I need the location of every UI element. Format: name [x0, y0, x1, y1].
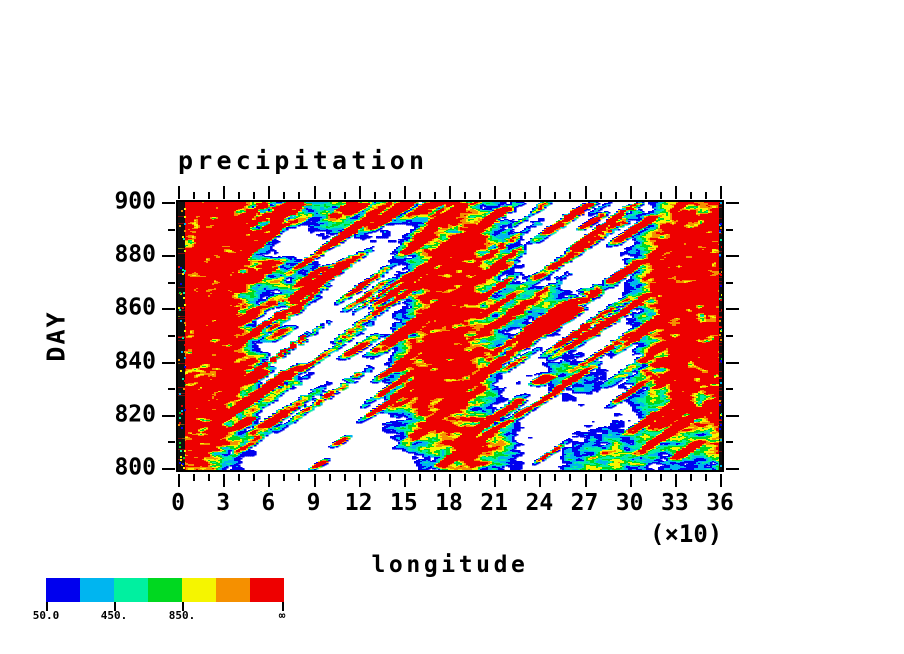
y-tick-label: 820	[100, 403, 156, 426]
x-axis-major-tick	[720, 186, 722, 199]
x-axis-minor-tick	[554, 192, 556, 199]
x-tick-label: 36	[706, 492, 734, 515]
x-tick-label: 21	[480, 492, 508, 515]
x-axis-minor-tick	[329, 474, 331, 481]
x-axis-major-tick	[494, 186, 496, 199]
x-tick-label: 30	[616, 492, 644, 515]
x-axis-minor-tick	[253, 192, 255, 199]
colorbar-band	[250, 578, 284, 602]
x-axis-minor-tick	[600, 192, 602, 199]
x-axis-minor-tick	[344, 474, 346, 481]
x-axis-minor-tick	[193, 192, 195, 199]
colorbar-band	[80, 578, 114, 602]
x-axis-major-tick	[449, 186, 451, 199]
x-axis-minor-tick	[660, 474, 662, 481]
x-axis-ticks-bottom	[176, 472, 724, 488]
x-axis-minor-tick	[283, 192, 285, 199]
y-axis-minor-tick	[726, 282, 733, 284]
y-axis-minor-tick	[726, 229, 733, 231]
y-axis-ticks-right	[724, 200, 740, 472]
x-axis-minor-tick	[389, 474, 391, 481]
colorbar: 50.0450.850.∞	[46, 578, 284, 602]
x-tick-label: 33	[661, 492, 689, 515]
x-axis-minor-tick	[434, 192, 436, 199]
x-axis-major-tick	[268, 474, 270, 487]
x-axis-minor-tick	[238, 474, 240, 481]
y-axis-major-tick	[726, 308, 739, 310]
x-axis-minor-tick	[298, 474, 300, 481]
y-axis-major-tick	[162, 202, 175, 204]
chart-title: precipitation	[178, 148, 428, 173]
x-axis-minor-tick	[705, 192, 707, 199]
x-axis-minor-tick	[524, 192, 526, 199]
x-axis-minor-tick	[509, 192, 511, 199]
colorbar-bands	[46, 578, 284, 602]
y-axis-major-tick	[726, 468, 739, 470]
y-axis-minor-tick	[168, 441, 175, 443]
plot-area	[176, 200, 724, 472]
x-axis-minor-tick	[298, 192, 300, 199]
x-tick-label: 15	[390, 492, 418, 515]
y-axis-major-tick	[726, 415, 739, 417]
x-axis-major-tick	[675, 474, 677, 487]
y-axis-minor-tick	[726, 441, 733, 443]
x-axis-minor-tick	[569, 192, 571, 199]
y-axis-major-tick	[162, 255, 175, 257]
x-axis-major-tick	[359, 474, 361, 487]
x-axis-minor-tick	[419, 474, 421, 481]
x-axis-minor-tick	[208, 474, 210, 481]
x-axis-major-tick	[630, 474, 632, 487]
x-tick-label: 12	[345, 492, 373, 515]
colorbar-tick-labels: 50.0450.850.∞	[46, 610, 346, 624]
x-axis-label: longitude	[371, 554, 528, 577]
x-axis-multiplier-note: (×10)	[650, 522, 722, 546]
x-axis-minor-tick	[329, 192, 331, 199]
colorbar-tick-label: 50.0	[33, 610, 60, 621]
x-axis-minor-tick	[615, 192, 617, 199]
x-tick-label: 9	[307, 492, 321, 515]
x-axis-minor-tick	[509, 474, 511, 481]
x-axis-major-tick	[585, 474, 587, 487]
y-axis-major-tick	[162, 468, 175, 470]
x-axis-major-tick	[539, 186, 541, 199]
x-axis-major-tick	[494, 474, 496, 487]
y-axis-major-tick	[726, 202, 739, 204]
x-tick-label: 18	[435, 492, 463, 515]
x-axis-minor-tick	[344, 192, 346, 199]
x-axis-minor-tick	[645, 192, 647, 199]
y-tick-label: 900	[100, 191, 156, 214]
x-axis-major-tick	[359, 186, 361, 199]
x-axis-minor-tick	[253, 474, 255, 481]
y-axis-minor-tick	[726, 388, 733, 390]
y-axis-label: DAY	[44, 310, 69, 361]
x-axis-minor-tick	[479, 474, 481, 481]
y-axis-minor-tick	[168, 335, 175, 337]
x-tick-label: 27	[571, 492, 599, 515]
x-axis-minor-tick	[690, 474, 692, 481]
x-axis-major-tick	[314, 474, 316, 487]
x-axis-major-tick	[223, 474, 225, 487]
precipitation-heatmap-canvas	[178, 202, 724, 472]
x-axis-minor-tick	[554, 474, 556, 481]
colorbar-band	[46, 578, 80, 602]
colorbar-tick-label: 450.	[101, 610, 128, 621]
y-axis-minor-tick	[168, 388, 175, 390]
colorbar-tick-label: 850.	[169, 610, 196, 621]
x-axis-minor-tick	[238, 192, 240, 199]
x-tick-label: 6	[261, 492, 275, 515]
x-axis-minor-tick	[374, 192, 376, 199]
y-axis-minor-tick	[168, 282, 175, 284]
colorbar-band	[148, 578, 182, 602]
y-tick-label: 880	[100, 244, 156, 267]
x-axis-minor-tick	[208, 192, 210, 199]
x-axis-minor-tick	[464, 192, 466, 199]
x-axis-major-tick	[178, 186, 180, 199]
y-axis-major-tick	[726, 362, 739, 364]
x-axis-minor-tick	[705, 474, 707, 481]
x-axis-major-tick	[404, 186, 406, 199]
x-axis-major-tick	[720, 474, 722, 487]
x-axis-minor-tick	[660, 192, 662, 199]
x-axis-major-tick	[268, 186, 270, 199]
x-axis-major-tick	[404, 474, 406, 487]
x-axis-minor-tick	[524, 474, 526, 481]
y-axis-minor-tick	[168, 229, 175, 231]
x-axis-minor-tick	[464, 474, 466, 481]
x-axis-minor-tick	[569, 474, 571, 481]
x-axis-ticks-top	[176, 184, 724, 200]
x-axis-major-tick	[539, 474, 541, 487]
x-tick-label: 0	[171, 492, 185, 515]
colorbar-band	[182, 578, 216, 602]
y-tick-label: 840	[100, 350, 156, 373]
x-axis-major-tick	[223, 186, 225, 199]
x-axis-major-tick	[449, 474, 451, 487]
x-axis-major-tick	[630, 186, 632, 199]
y-axis-minor-tick	[726, 335, 733, 337]
x-axis-minor-tick	[434, 474, 436, 481]
x-axis-minor-tick	[600, 474, 602, 481]
x-tick-label: 3	[216, 492, 230, 515]
x-axis-minor-tick	[193, 474, 195, 481]
x-axis-major-tick	[314, 186, 316, 199]
y-axis-major-tick	[162, 362, 175, 364]
x-axis-minor-tick	[615, 474, 617, 481]
y-axis-major-tick	[726, 255, 739, 257]
y-tick-label: 800	[100, 457, 156, 480]
x-axis-minor-tick	[690, 192, 692, 199]
x-axis-major-tick	[675, 186, 677, 199]
x-axis-major-tick	[585, 186, 587, 199]
x-axis-minor-tick	[479, 192, 481, 199]
x-axis-minor-tick	[283, 474, 285, 481]
y-tick-label: 860	[100, 297, 156, 320]
x-axis-minor-tick	[374, 474, 376, 481]
x-tick-label: 24	[525, 492, 553, 515]
x-axis-minor-tick	[419, 192, 421, 199]
y-axis-major-tick	[162, 415, 175, 417]
colorbar-tick-label: ∞	[279, 610, 286, 621]
y-axis-ticks-left	[160, 200, 176, 472]
x-axis-minor-tick	[389, 192, 391, 199]
x-axis-minor-tick	[645, 474, 647, 481]
y-axis-major-tick	[162, 308, 175, 310]
x-axis-major-tick	[178, 474, 180, 487]
colorbar-band	[114, 578, 148, 602]
colorbar-band	[216, 578, 250, 602]
